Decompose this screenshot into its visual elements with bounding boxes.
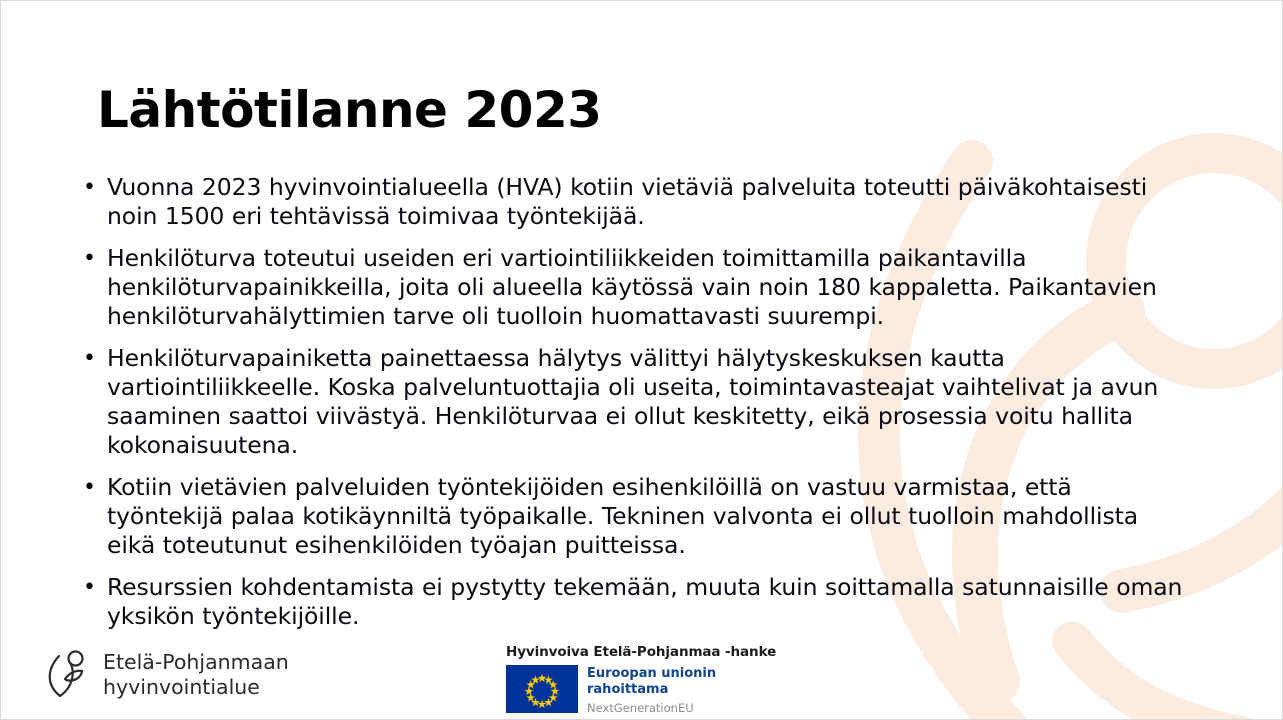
eu-funded-line2: rahoittama: [587, 682, 716, 698]
bullet-text: Henkilöturva toteutui useiden eri vartio…: [107, 244, 1189, 331]
bullet-marker-icon: •: [79, 473, 107, 502]
eu-funded-label: Euroopan unionin rahoittama: [587, 666, 716, 697]
organisation-logo: Etelä-Pohjanmaan hyvinvointialue: [43, 649, 289, 701]
list-item: • Vuonna 2023 hyvinvointialueella (HVA) …: [79, 173, 1189, 231]
eu-flag-icon: [506, 665, 578, 713]
list-item: • Resurssien kohdentamista ei pystytty t…: [79, 573, 1189, 631]
eu-funding-block: Hyvinvoiva Etelä-Pohjanmaa -hanke: [506, 644, 776, 715]
eu-funding-text: Euroopan unionin rahoittama NextGenerati…: [587, 665, 716, 715]
bullet-text: Henkilöturvapainiketta painettaessa häly…: [107, 344, 1189, 460]
bullet-marker-icon: •: [79, 244, 107, 273]
leaf-person-logo-mark: [43, 649, 91, 701]
list-item: • Henkilöturvapainiketta painettaessa hä…: [79, 344, 1189, 460]
bullet-marker-icon: •: [79, 344, 107, 373]
bullet-marker-icon: •: [79, 573, 107, 602]
slide-title: Lähtötilanne 2023: [97, 81, 602, 139]
presentation-slide: Lähtötilanne 2023 • Vuonna 2023 hyvinvoi…: [0, 0, 1283, 720]
organisation-name-line1: Etelä-Pohjanmaan: [103, 650, 289, 674]
list-item: • Kotiin vietävien palveluiden työntekij…: [79, 473, 1189, 560]
bullet-list: • Vuonna 2023 hyvinvointialueella (HVA) …: [79, 173, 1189, 644]
bullet-text: Kotiin vietävien palveluiden työntekijöi…: [107, 473, 1189, 560]
eu-programme-label: NextGenerationEU: [587, 701, 716, 715]
organisation-name: Etelä-Pohjanmaan hyvinvointialue: [103, 650, 289, 700]
bullet-marker-icon: •: [79, 173, 107, 202]
list-item: • Henkilöturva toteutui useiden eri vart…: [79, 244, 1189, 331]
eu-funding-row: Euroopan unionin rahoittama NextGenerati…: [506, 665, 776, 715]
organisation-name-line2: hyvinvointialue: [103, 675, 289, 700]
bullet-text: Vuonna 2023 hyvinvointialueella (HVA) ko…: [107, 173, 1189, 231]
eu-funded-line1: Euroopan unionin: [587, 666, 716, 681]
bullet-text: Resurssien kohdentamista ei pystytty tek…: [107, 573, 1189, 631]
project-title: Hyvinvoiva Etelä-Pohjanmaa -hanke: [506, 644, 776, 660]
